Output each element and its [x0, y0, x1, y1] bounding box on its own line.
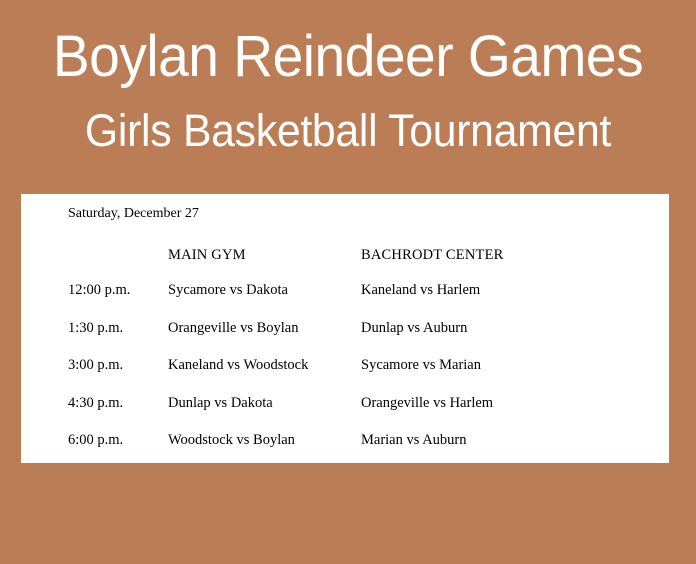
cell-main-gym-game: Kaneland vs Woodstock [168, 347, 361, 385]
cell-main-gym-game: Woodstock vs Boylan [168, 422, 361, 460]
cell-time: 1:30 p.m. [21, 310, 168, 348]
cell-time: 3:00 p.m. [21, 347, 168, 385]
column-header-time [21, 238, 168, 272]
schedule-table-body: 12:00 p.m. Sycamore vs Dakota Kaneland v… [21, 272, 669, 460]
cell-bachrodt-center-game: Dunlap vs Auburn [361, 310, 669, 348]
cell-main-gym-game: Orangeville vs Boylan [168, 310, 361, 348]
table-row: 12:00 p.m. Sycamore vs Dakota Kaneland v… [21, 272, 669, 310]
cell-bachrodt-center-game: Orangeville vs Harlem [361, 385, 669, 423]
column-header-bachrodt-center: BACHRODT CENTER [361, 238, 669, 272]
schedule-panel: Saturday, December 27 MAIN GYM BACHRODT … [21, 194, 669, 463]
table-header-row: MAIN GYM BACHRODT CENTER [21, 238, 669, 272]
schedule-table-header: MAIN GYM BACHRODT CENTER [21, 238, 669, 272]
column-header-main-gym: MAIN GYM [168, 238, 361, 272]
table-row: 3:00 p.m. Kaneland vs Woodstock Sycamore… [21, 347, 669, 385]
schedule-date: Saturday, December 27 [68, 205, 199, 223]
table-row: 4:30 p.m. Dunlap vs Dakota Orangeville v… [21, 385, 669, 423]
table-row: 6:00 p.m. Woodstock vs Boylan Marian vs … [21, 422, 669, 460]
cell-time: 4:30 p.m. [21, 385, 168, 423]
cell-time: 12:00 p.m. [21, 272, 168, 310]
table-row: 1:30 p.m. Orangeville vs Boylan Dunlap v… [21, 310, 669, 348]
tournament-poster: Boylan Reindeer Games Girls Basketball T… [0, 0, 696, 564]
schedule-table: MAIN GYM BACHRODT CENTER 12:00 p.m. Syca… [21, 238, 669, 460]
cell-bachrodt-center-game: Marian vs Auburn [361, 422, 669, 460]
cell-bachrodt-center-game: Kaneland vs Harlem [361, 272, 669, 310]
cell-bachrodt-center-game: Sycamore vs Marian [361, 347, 669, 385]
page-title: Boylan Reindeer Games [17, 22, 678, 92]
cell-main-gym-game: Dunlap vs Dakota [168, 385, 361, 423]
poster-header: Boylan Reindeer Games Girls Basketball T… [0, 0, 696, 194]
page-subtitle: Girls Basketball Tournament [17, 103, 678, 159]
cell-main-gym-game: Sycamore vs Dakota [168, 272, 361, 310]
cell-time: 6:00 p.m. [21, 422, 168, 460]
